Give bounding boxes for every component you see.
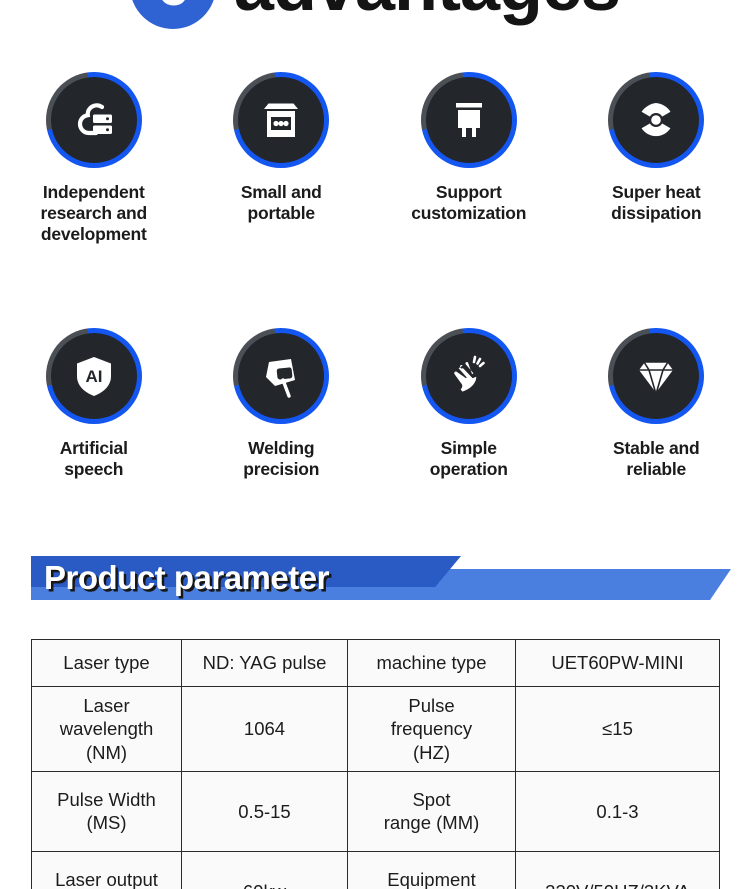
plug-adapter-icon xyxy=(426,77,512,163)
ai-shield-icon: AI xyxy=(51,333,137,419)
table-row: Pulse Width (MS) 0.5-15 Spot range (MM) … xyxy=(32,771,720,851)
param-value-cell: 60kw xyxy=(182,851,348,889)
feature-artificial-speech: AI Artificial speech xyxy=(0,328,188,480)
feature-label: Stable and reliable xyxy=(613,438,700,480)
param-value-cell: UET60PW-MINI xyxy=(516,640,720,687)
feature-label: Simple operation xyxy=(430,438,508,480)
feature-label: Welding precision xyxy=(243,438,319,480)
feature-label: Small and portable xyxy=(241,182,322,224)
product-advantages-page: 6 advantages Independent research and de… xyxy=(0,0,750,889)
param-value-cell: 1064 xyxy=(182,687,348,772)
feature-badge xyxy=(233,72,329,168)
hero-number-badge: 6 xyxy=(130,0,216,29)
table-row: Laser wavelength (NM) 1064 Pulse frequen… xyxy=(32,687,720,772)
radiation-fan-icon xyxy=(613,77,699,163)
feature-label: Independent research and development xyxy=(40,182,147,244)
param-value-cell: ≤15 xyxy=(516,687,720,772)
welding-helmet-icon xyxy=(238,333,324,419)
feature-row-1: Independent research and development Sma… xyxy=(0,72,750,244)
hero-heading: 6 advantages xyxy=(0,0,750,34)
feature-small-portable: Small and portable xyxy=(188,72,376,244)
param-value-cell: 0.1-3 xyxy=(516,771,720,851)
feature-badge: AI xyxy=(46,328,142,424)
param-name-cell: Laser output power xyxy=(32,851,182,889)
svg-text:AI: AI xyxy=(85,367,102,386)
feature-support-customization: Support customization xyxy=(375,72,563,244)
param-value-cell: 220V/50HZ/3KVA xyxy=(516,851,720,889)
clapping-hands-icon xyxy=(426,333,512,419)
param-value-cell: ND: YAG pulse xyxy=(182,640,348,687)
hero-title: advantages xyxy=(234,0,620,22)
feature-stable-reliable: Stable and reliable xyxy=(563,328,750,480)
feature-label: Artificial speech xyxy=(60,438,128,480)
feature-label: Support customization xyxy=(411,182,526,224)
section-title: Product parameter xyxy=(44,556,329,600)
feature-label: Super heat dissipation xyxy=(611,182,701,224)
portable-machine-icon xyxy=(238,77,324,163)
diamond-icon xyxy=(613,333,699,419)
param-name-cell: Spot range (MM) xyxy=(348,771,516,851)
feature-badge xyxy=(421,72,517,168)
feature-independent-rd: Independent research and development xyxy=(0,72,188,244)
table-row: Laser type ND: YAG pulse machine type UE… xyxy=(32,640,720,687)
table-row: Laser output power 60kw Equipment power … xyxy=(32,851,720,889)
feature-badge xyxy=(608,72,704,168)
feature-badge xyxy=(421,328,517,424)
section-banner: Product parameter xyxy=(0,556,750,600)
feature-badge xyxy=(233,328,329,424)
feature-super-heat-dissipation: Super heat dissipation xyxy=(563,72,750,244)
param-name-cell: Equipment power xyxy=(348,851,516,889)
feature-badge xyxy=(46,72,142,168)
param-name-cell: Laser wavelength (NM) xyxy=(32,687,182,772)
param-name-cell: machine type xyxy=(348,640,516,687)
param-name-cell: Pulse frequency (HZ) xyxy=(348,687,516,772)
feature-welding-precision: Welding precision xyxy=(188,328,376,480)
feature-badge xyxy=(608,328,704,424)
param-value-cell: 0.5-15 xyxy=(182,771,348,851)
feature-simple-operation: Simple operation xyxy=(375,328,563,480)
feature-row-2: AI Artificial speech Welding precis xyxy=(0,328,750,480)
cloud-server-icon xyxy=(51,77,137,163)
product-parameter-table: Laser type ND: YAG pulse machine type UE… xyxy=(31,639,720,889)
param-name-cell: Pulse Width (MS) xyxy=(32,771,182,851)
param-name-cell: Laser type xyxy=(32,640,182,687)
